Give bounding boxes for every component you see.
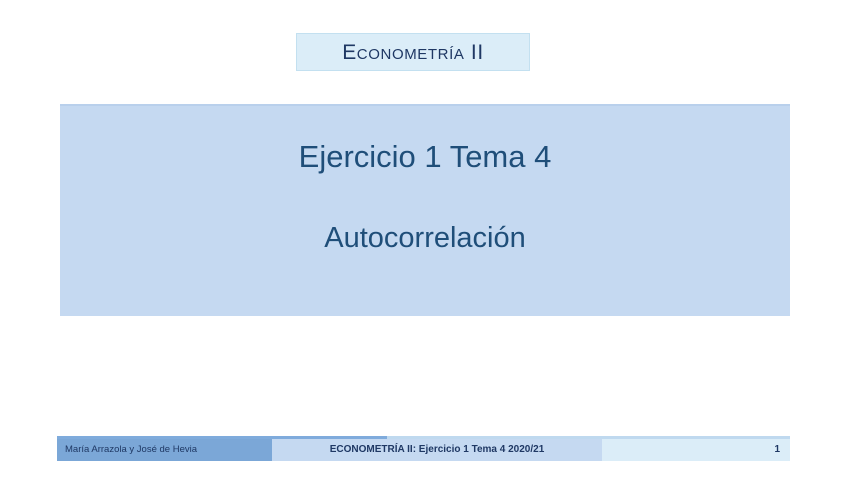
course-banner: Econometría II xyxy=(296,33,530,71)
slide-title-subtitle: Autocorrelación xyxy=(324,222,526,255)
slide-title-main: Ejercicio 1 Tema 4 xyxy=(299,139,552,175)
slide-canvas: Econometría II Ejercicio 1 Tema 4 Autoco… xyxy=(0,0,848,477)
footer-authors-label: María Arrazola y José de Hevia xyxy=(65,445,197,455)
course-banner-label: Econometría II xyxy=(342,42,484,63)
title-block: Ejercicio 1 Tema 4 Autocorrelación xyxy=(60,104,790,316)
footer-authors-segment: María Arrazola y José de Hevia xyxy=(57,439,272,461)
page-number: 1 xyxy=(774,445,780,455)
footer-bar: María Arrazola y José de Hevia ECONOMETR… xyxy=(57,439,790,461)
footer-center-segment: ECONOMETRÍA II: Ejercicio 1 Tema 4 2020/… xyxy=(272,439,602,461)
footer-page-segment: 1 xyxy=(602,439,790,461)
footer-course-label: ECONOMETRÍA II: Ejercicio 1 Tema 4 2020/… xyxy=(330,445,545,455)
